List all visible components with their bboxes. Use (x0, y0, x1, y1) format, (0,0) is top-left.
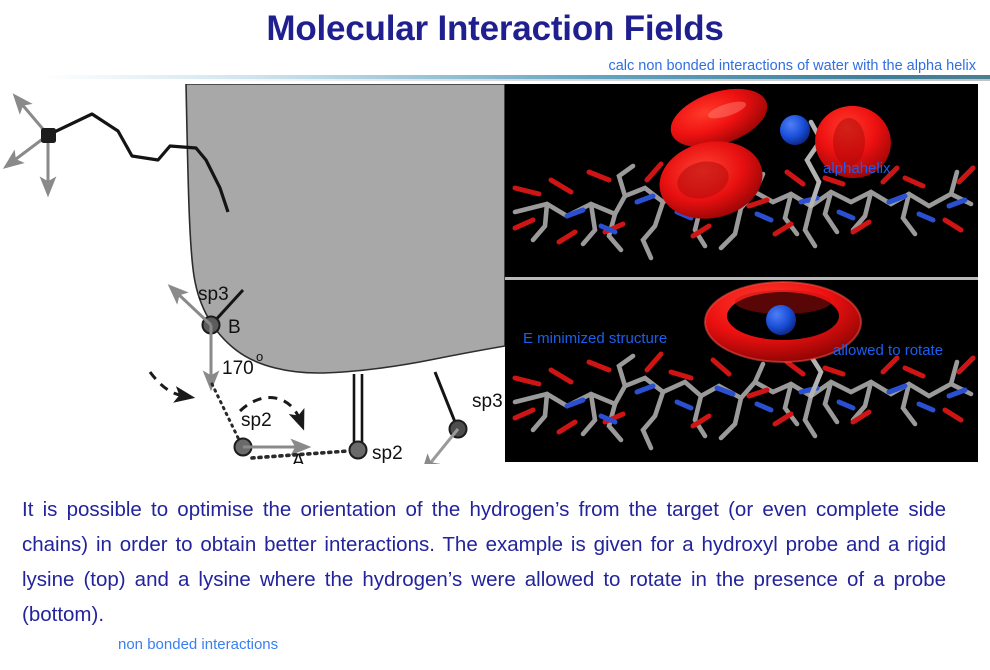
label-sp2-left: sp2 (241, 410, 272, 431)
rotatable-lysine-render: E minimized structure allowed to rotate (505, 280, 978, 462)
sp2-right-atom (350, 442, 367, 459)
label-sp3-right: sp3 (472, 391, 503, 412)
footer-caption: non bonded interactions (118, 636, 278, 654)
label-e-minimized-structure: E minimized structure (523, 330, 667, 348)
rigid-lysine-render: alphahelix (505, 84, 978, 277)
slide-root: Molecular Interaction Fields calc non bo… (0, 0, 990, 670)
page-title: Molecular Interaction Fields (0, 8, 990, 50)
double-bond (354, 374, 362, 446)
angle-dotted-line (212, 384, 242, 446)
hydrogen-orientation-diagram: sp3 B 170 o sp2 A sp2 sp3 (0, 84, 505, 464)
probe-sphere (780, 115, 810, 145)
header-rule-shadow (180, 79, 990, 81)
label-sp3-left: sp3 (198, 284, 229, 305)
probe-sphere (766, 305, 796, 335)
sp3-right-arrow (428, 429, 458, 464)
label-node-a: A (292, 451, 305, 464)
sp3-right-bond (435, 372, 457, 427)
label-angle-superscript: o (256, 349, 263, 364)
label-alphahelix: alphahelix (823, 160, 891, 178)
label-sp2-right: sp2 (372, 443, 403, 464)
rotation-arrow-left (150, 372, 184, 396)
body-paragraph: It is possible to optimise the orientati… (22, 492, 946, 632)
header-caption: calc non bonded interactions of water wi… (608, 58, 976, 75)
label-angle: 170 (222, 358, 254, 379)
upper-donor-node-arrows (12, 102, 48, 186)
label-node-b: B (228, 317, 241, 338)
upper-donor-node (41, 128, 56, 143)
molecular-render-panel: alphahelix (505, 84, 978, 462)
label-allowed-to-rotate: allowed to rotate (833, 342, 943, 360)
